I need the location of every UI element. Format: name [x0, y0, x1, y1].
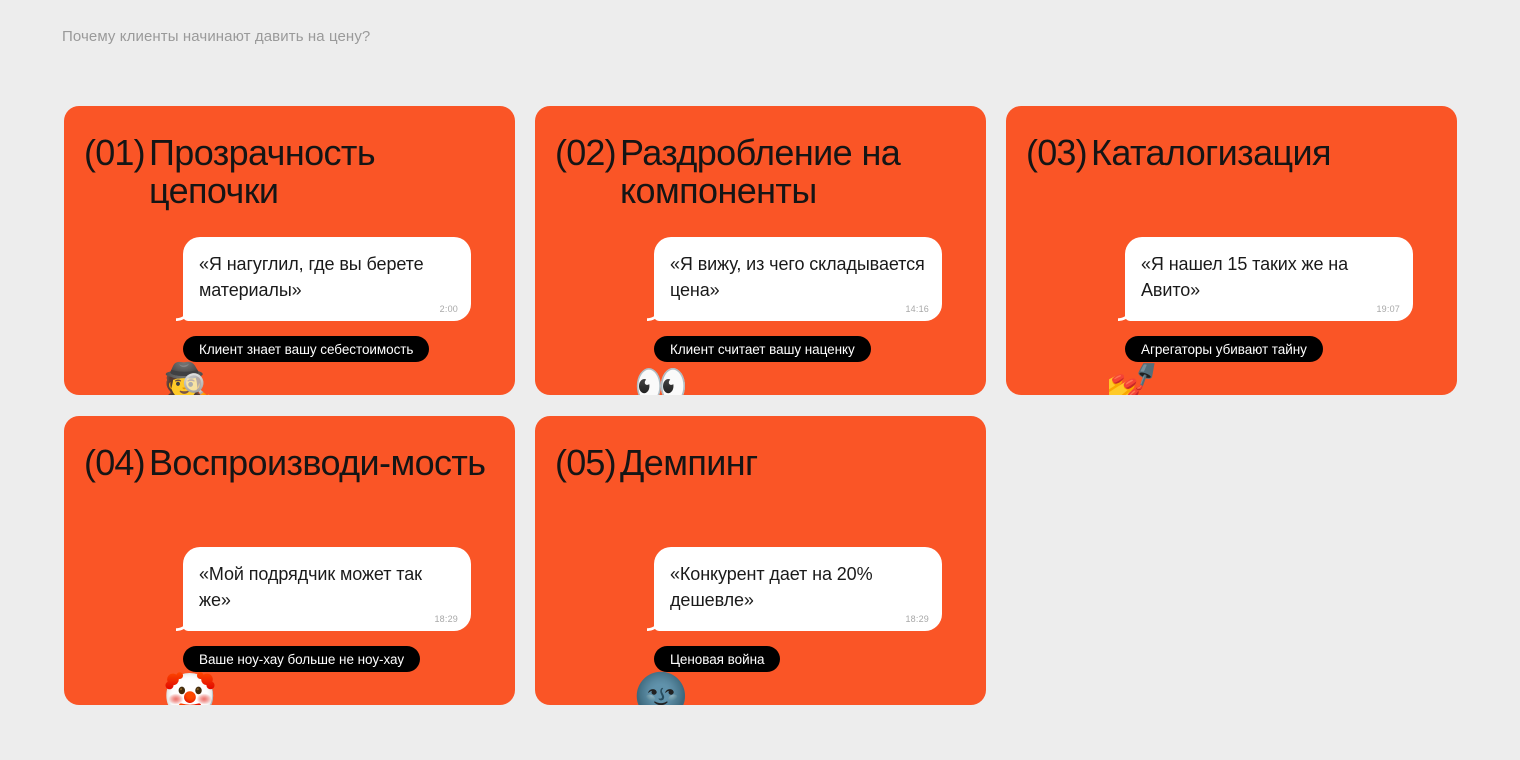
- nail-polish-emoji: 💅: [1104, 359, 1160, 395]
- status-badge: Ваше ноу-хау больше не ноу-хау: [183, 646, 420, 672]
- card-number: (05): [555, 444, 616, 482]
- status-badge: Ценовая война: [654, 646, 780, 672]
- status-badge: Агрегаторы убивают тайну: [1125, 336, 1323, 362]
- new-moon-face-emoji: 🌚: [633, 669, 689, 705]
- chat-bubble: «Я нагуглил, где вы берете материалы» 2:…: [183, 237, 471, 321]
- clown-face-emoji: 🤡: [162, 669, 218, 705]
- chat-bubble-text: «Мой подрядчик может так же»: [199, 562, 455, 613]
- card-title: Каталогизация: [1091, 134, 1439, 172]
- card-02[interactable]: (02) Раздробление на компоненты 👀 «Я виж…: [535, 106, 986, 395]
- chat-bubble-text: «Конкурент дает на 20% дешевле»: [670, 562, 926, 613]
- card-number: (02): [555, 134, 616, 172]
- chat-bubble: «Мой подрядчик может так же» 18:29: [183, 547, 471, 631]
- card-01[interactable]: (01) Прозрачность цепочки 🕵️ «Я нагуглил…: [64, 106, 515, 395]
- card-number: (04): [84, 444, 145, 482]
- chat-bubble-timestamp: 18:29: [434, 614, 458, 624]
- chat-bubble-timestamp: 18:29: [905, 614, 929, 624]
- chat-bubble: «Я вижу, из чего складывается цена» 14:1…: [654, 237, 942, 321]
- status-badge: Клиент считает вашу наценку: [654, 336, 871, 362]
- card-title: Воспроизводи-мость: [149, 444, 497, 482]
- card-title: Демпинг: [620, 444, 968, 482]
- card-title: Раздробление на компоненты: [620, 134, 968, 210]
- page-title: Почему клиенты начинают давить на цену?: [62, 28, 370, 45]
- chat-bubble-text: «Я нагуглил, где вы берете материалы»: [199, 252, 455, 303]
- cards-grid: (01) Прозрачность цепочки 🕵️ «Я нагуглил…: [64, 106, 1456, 705]
- chat-bubble-text: «Я нашел 15 таких же на Авито»: [1141, 252, 1397, 303]
- card-05[interactable]: (05) Демпинг 🌚 «Конкурент дает на 20% де…: [535, 416, 986, 705]
- card-title: Прозрачность цепочки: [149, 134, 497, 210]
- detective-emoji: 🕵️: [162, 359, 218, 395]
- card-04[interactable]: (04) Воспроизводи-мость 🤡 «Мой подрядчик…: [64, 416, 515, 705]
- chat-bubble-timestamp: 14:16: [905, 304, 929, 314]
- chat-bubble-text: «Я вижу, из чего складывается цена»: [670, 252, 926, 303]
- eyes-emoji: 👀: [633, 359, 689, 395]
- chat-bubble: «Я нашел 15 таких же на Авито» 19:07: [1125, 237, 1413, 321]
- chat-bubble: «Конкурент дает на 20% дешевле» 18:29: [654, 547, 942, 631]
- card-03[interactable]: (03) Каталогизация 💅 «Я нашел 15 таких ж…: [1006, 106, 1457, 395]
- card-number: (03): [1026, 134, 1087, 172]
- status-badge: Клиент знает вашу себестоимость: [183, 336, 429, 362]
- card-number: (01): [84, 134, 145, 172]
- page-root: Почему клиенты начинают давить на цену? …: [0, 0, 1520, 760]
- chat-bubble-timestamp: 2:00: [440, 304, 458, 314]
- chat-bubble-timestamp: 19:07: [1376, 304, 1400, 314]
